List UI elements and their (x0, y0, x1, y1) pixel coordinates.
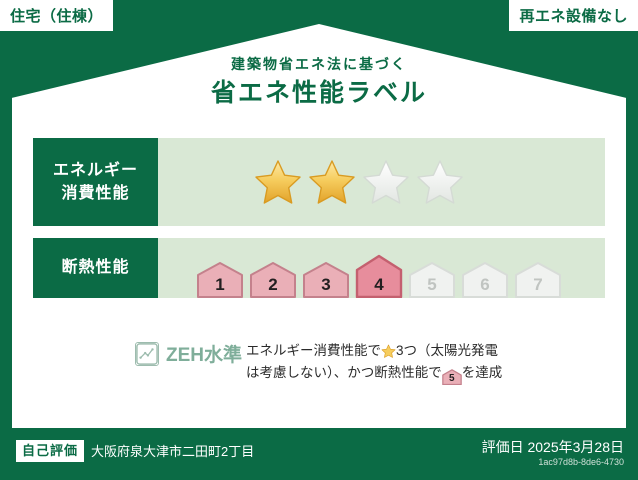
zeh-standard-label: ZEH水準 (166, 340, 242, 367)
insulation-grade-6: 6 (461, 261, 509, 298)
zeh-chart-icon (135, 342, 159, 366)
insulation-grade-2: 2 (249, 261, 297, 298)
insulation-grade-3: 3 (302, 261, 350, 298)
insulation-grade-1-number: 1 (215, 276, 224, 298)
zeh-desc-star-count: 3つ（太陽光発電 (396, 343, 498, 358)
insulation-grade-6-number: 6 (480, 276, 489, 298)
energy-performance-row: エネルギー 消費性能 (33, 138, 605, 226)
insulation-grade-4-number: 4 (374, 276, 383, 298)
insulation-grade-4-achieved: 4 (355, 254, 403, 298)
label-id: 1ac97d8b-8de6-4730 (482, 457, 624, 469)
star-icon-filled-2 (307, 158, 357, 206)
footer-right: 評価日 2025年3月28日 1ac97d8b-8de6-4730 (482, 438, 624, 469)
zeh-standard-block: ZEH水準 (135, 340, 242, 367)
energy-performance-label: エネルギー 消費性能 (33, 138, 158, 226)
star-icon-empty-3 (361, 158, 411, 206)
insulation-grade-7: 7 (514, 261, 562, 298)
energy-label-line2: 消費性能 (61, 182, 129, 205)
insulation-grade-5-number: 5 (427, 276, 436, 298)
evaluation-date: 評価日 2025年3月28日 (482, 438, 624, 456)
insulation-grade-icon-inline: 5 (442, 369, 462, 385)
insulation-grade-7-number: 7 (533, 276, 542, 298)
zeh-desc-part3: を達成 (462, 365, 503, 380)
label-subtitle: 建築物省エネ法に基づく (0, 56, 638, 73)
star-icon-inline (381, 343, 396, 358)
insulation-grade-2-number: 2 (268, 276, 277, 298)
star-icon-empty-4 (415, 158, 465, 206)
insulation-grade-5: 5 (408, 261, 456, 298)
building-type-tag: 住宅（住棟） (0, 0, 113, 31)
insulation-grade-icon-inline-number: 5 (442, 369, 462, 388)
title-block: 建築物省エネ法に基づく 省エネ性能ラベル (0, 56, 638, 108)
insulation-grade-3-number: 3 (321, 276, 330, 298)
star-icon-filled-1 (253, 158, 303, 206)
energy-label-line1: エネルギー (53, 159, 138, 182)
zeh-desc-part2: は考慮しない）、かつ断熱性能で (246, 365, 442, 380)
page-title: 省エネ性能ラベル (0, 79, 638, 108)
zeh-description: エネルギー消費性能で3つ（太陽光発電は考慮しない）、かつ断熱性能で5を達成 (246, 340, 546, 385)
self-evaluation-badge: 自己評価 (16, 440, 84, 462)
renewable-energy-tag: 再エネ設備なし (509, 0, 638, 31)
insulation-grade-1: 1 (196, 261, 244, 298)
footer-left: 自己評価 大阪府泉大津市二田町2丁目 (16, 440, 254, 462)
insulation-performance-row: 断熱性能 1 2 (33, 238, 605, 298)
insulation-label-line1: 断熱性能 (61, 256, 129, 279)
zeh-desc-part1: エネルギー消費性能で (246, 343, 381, 358)
property-address: 大阪府泉大津市二田町2丁目 (91, 441, 254, 460)
star-rating (158, 158, 465, 206)
energy-performance-value (158, 138, 605, 226)
insulation-performance-value: 1 2 3 4 (158, 238, 605, 298)
insulation-performance-label: 断熱性能 (33, 238, 158, 298)
energy-performance-label: 住宅（住棟） 再エネ設備なし 建築物省エネ法に基づく 省エネ性能ラベル エネルギ… (0, 0, 638, 480)
insulation-grade-scale: 1 2 3 4 (158, 238, 562, 298)
